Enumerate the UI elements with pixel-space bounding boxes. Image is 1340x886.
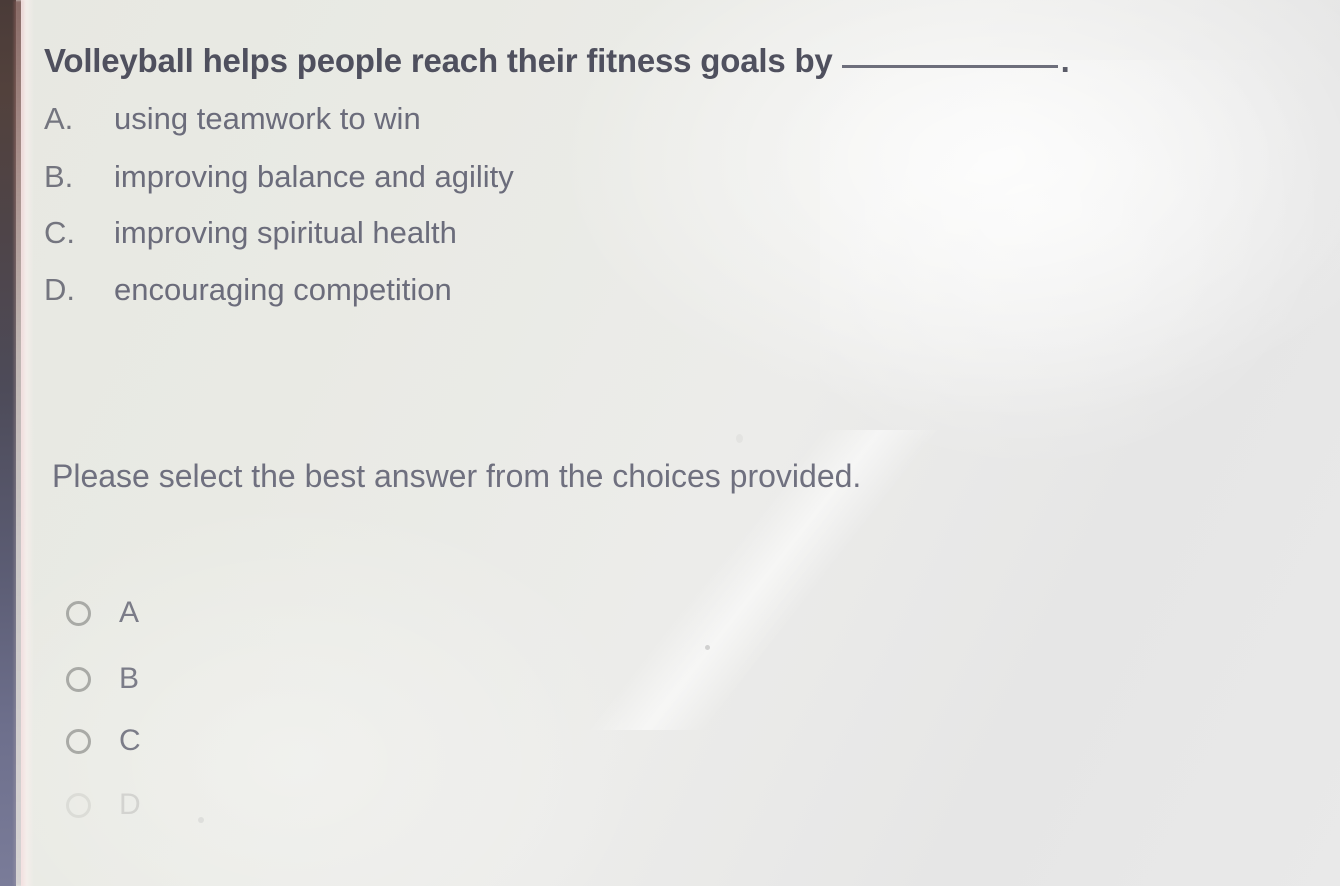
choice-b-label: B. bbox=[44, 159, 114, 195]
choice-a-text: using teamwork to win bbox=[114, 101, 421, 136]
choice-b-text: improving balance and agility bbox=[114, 159, 514, 194]
question-period: . bbox=[1061, 42, 1070, 79]
radio-button-c-icon[interactable] bbox=[66, 729, 91, 754]
radio-button-a-icon[interactable] bbox=[66, 601, 91, 626]
photo-speck-1 bbox=[705, 645, 710, 650]
choice-a-label: A. bbox=[44, 101, 114, 137]
question-content: Volleyball helps people reach their fitn… bbox=[0, 0, 1340, 886]
answer-option-b[interactable]: B bbox=[66, 664, 139, 694]
radio-button-b-icon[interactable] bbox=[66, 667, 91, 692]
photo-speck-3 bbox=[736, 434, 743, 443]
photo-speck-2 bbox=[198, 817, 204, 823]
screenshot-root: Volleyball helps people reach their fitn… bbox=[0, 0, 1340, 886]
question-text: Volleyball helps people reach their fitn… bbox=[44, 42, 833, 79]
fill-in-blank-rule bbox=[842, 65, 1058, 68]
radio-button-d-icon[interactable] bbox=[66, 793, 91, 818]
question-prompt: Volleyball helps people reach their fitn… bbox=[44, 42, 1070, 80]
answer-option-c-label: C bbox=[119, 726, 141, 756]
answer-option-b-label: B bbox=[119, 664, 139, 694]
choice-c-label: C. bbox=[44, 215, 114, 251]
answer-option-d[interactable]: D bbox=[66, 790, 141, 820]
choice-a: A.using teamwork to win bbox=[44, 101, 421, 137]
choice-d-text: encouraging competition bbox=[114, 272, 452, 307]
choice-d-label: D. bbox=[44, 272, 114, 308]
choice-d: D.encouraging competition bbox=[44, 272, 452, 308]
answer-option-d-label: D bbox=[119, 790, 141, 820]
answer-option-a-label: A bbox=[119, 598, 139, 628]
choice-b: B.improving balance and agility bbox=[44, 159, 514, 195]
choice-c: C.improving spiritual health bbox=[44, 215, 457, 251]
answer-option-c[interactable]: C bbox=[66, 726, 141, 756]
instruction-text: Please select the best answer from the c… bbox=[52, 458, 861, 495]
answer-option-a[interactable]: A bbox=[66, 598, 139, 628]
choice-c-text: improving spiritual health bbox=[114, 215, 457, 250]
